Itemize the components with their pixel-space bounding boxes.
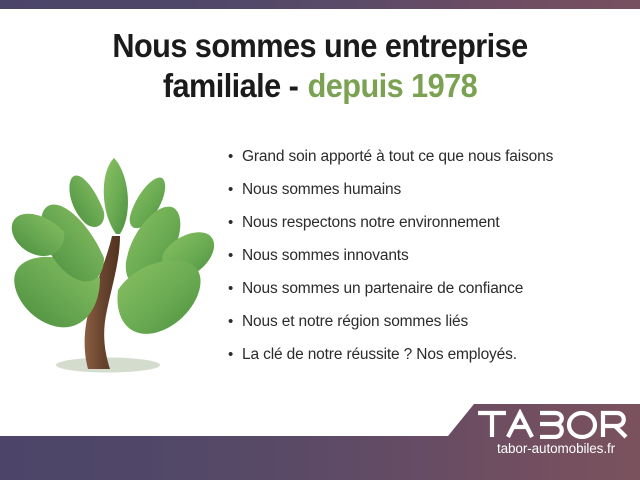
bullet-icon: • xyxy=(228,215,242,230)
brand-logo[interactable]: tabor-automobiles.fr xyxy=(476,409,636,456)
slide-root: Nous sommes une entreprise familiale -de… xyxy=(0,0,640,480)
list-item-label: Nous respectons notre environnement xyxy=(242,214,500,232)
value-points-list: • Grand soin apporté à tout ce que nous … xyxy=(228,148,628,379)
page-title-line-1: Nous sommes une entreprise xyxy=(22,26,617,66)
bullet-icon: • xyxy=(228,314,242,329)
list-item: • Grand soin apporté à tout ce que nous … xyxy=(228,148,628,181)
bullet-icon: • xyxy=(228,182,242,197)
list-item: • Nous respectons notre environnement xyxy=(228,214,628,247)
list-item-label: Grand soin apporté à tout ce que nous fa… xyxy=(242,148,553,166)
brand-tagline: tabor-automobiles.fr xyxy=(476,441,636,456)
list-item: • Nous sommes humains xyxy=(228,181,628,214)
page-title-line-2-dark: familiale - xyxy=(163,67,298,104)
bullet-icon: • xyxy=(228,281,242,296)
tree-leaf-center xyxy=(104,158,128,234)
page-title: Nous sommes une entreprise familiale -de… xyxy=(22,26,617,107)
list-item: • Nous sommes innovants xyxy=(228,247,628,280)
tabor-wordmark xyxy=(476,409,636,439)
list-item-label: Nous sommes innovants xyxy=(242,247,409,265)
page-title-accent: depuis 1978 xyxy=(308,67,478,104)
list-item-label: Nous sommes humains xyxy=(242,181,401,199)
bullet-icon: • xyxy=(228,347,242,362)
list-item: • Nous et notre région sommes liés xyxy=(228,313,628,346)
bullet-icon: • xyxy=(228,149,242,164)
tree-illustration xyxy=(8,150,222,388)
list-item: • Nous sommes un partenaire de confiance xyxy=(228,280,628,313)
list-item-label: La clé de notre réussite ? Nos employés. xyxy=(242,346,517,364)
list-item-label: Nous sommes un partenaire de confiance xyxy=(242,280,523,298)
top-accent-bar xyxy=(0,0,640,9)
list-item-label: Nous et notre région sommes liés xyxy=(242,313,468,331)
list-item: • La clé de notre réussite ? Nos employé… xyxy=(228,346,628,379)
page-title-line-2: familiale -depuis 1978 xyxy=(22,66,617,106)
bullet-icon: • xyxy=(228,248,242,263)
